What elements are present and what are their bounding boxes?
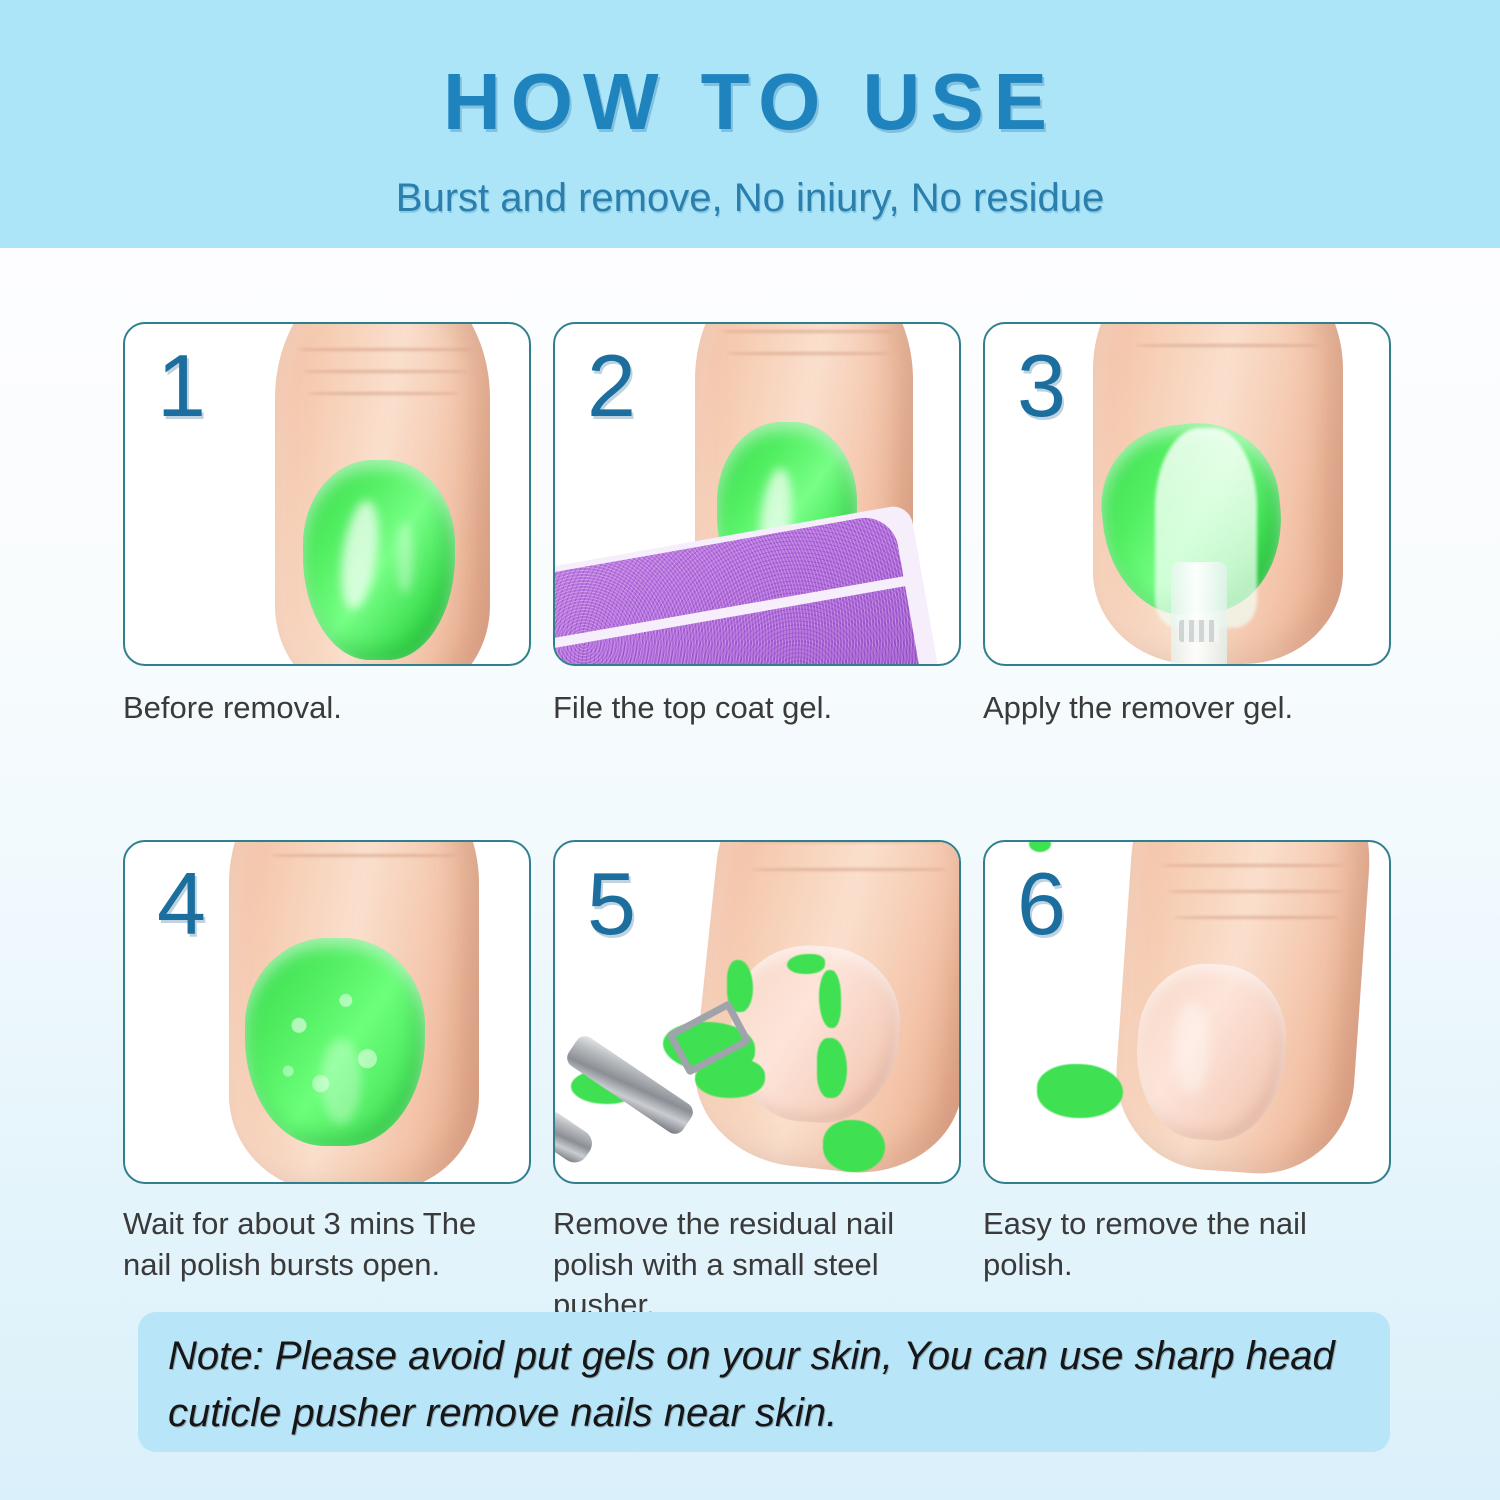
step-image-card-4: 4 bbox=[123, 840, 531, 1184]
note-text: Note: Please avoid put gels on your skin… bbox=[168, 1328, 1360, 1442]
header-banner: HOW TO USE Burst and remove, No iniury, … bbox=[0, 0, 1500, 248]
step-number-1: 1 bbox=[157, 342, 206, 430]
step-number-6: 6 bbox=[1017, 860, 1066, 948]
step-number-2: 2 bbox=[587, 342, 636, 430]
page-subtitle: Burst and remove, No iniury, No residue bbox=[0, 142, 1500, 218]
steps-grid: 1 Before removal. 2 File the top coat ge… bbox=[123, 322, 1391, 1325]
step-item-6: 6 Easy to remove the nail polish. bbox=[983, 840, 1391, 1325]
step-caption-1: Before removal. bbox=[123, 688, 523, 728]
step-caption-5: Remove the residual nail polish with a s… bbox=[553, 1204, 953, 1325]
step-image-card-1: 1 bbox=[123, 322, 531, 666]
step-item-4: 4 Wait for about 3 mins The nail polish … bbox=[123, 840, 531, 1325]
step-number-3: 3 bbox=[1017, 342, 1066, 430]
step-caption-2: File the top coat gel. bbox=[553, 688, 953, 728]
step-caption-3: Apply the remover gel. bbox=[983, 688, 1383, 728]
note-box: Note: Please avoid put gels on your skin… bbox=[138, 1312, 1390, 1452]
step-item-3: 3 Apply the remover gel. bbox=[983, 322, 1391, 728]
step-number-5: 5 bbox=[587, 860, 636, 948]
step-caption-4: Wait for about 3 mins The nail polish bu… bbox=[123, 1204, 523, 1285]
step-caption-6: Easy to remove the nail polish. bbox=[983, 1204, 1383, 1285]
page-title: HOW TO USE bbox=[0, 0, 1500, 142]
step-item-1: 1 Before removal. bbox=[123, 322, 531, 728]
step-image-card-6: 6 bbox=[983, 840, 1391, 1184]
step-number-4: 4 bbox=[157, 860, 206, 948]
step-image-card-2: 2 bbox=[553, 322, 961, 666]
step-image-card-3: 3 bbox=[983, 322, 1391, 666]
step-item-2: 2 File the top coat gel. bbox=[553, 322, 961, 728]
step-image-card-5: 5 bbox=[553, 840, 961, 1184]
step-item-5: 5 Remove the residual nail polish with a… bbox=[553, 840, 961, 1325]
